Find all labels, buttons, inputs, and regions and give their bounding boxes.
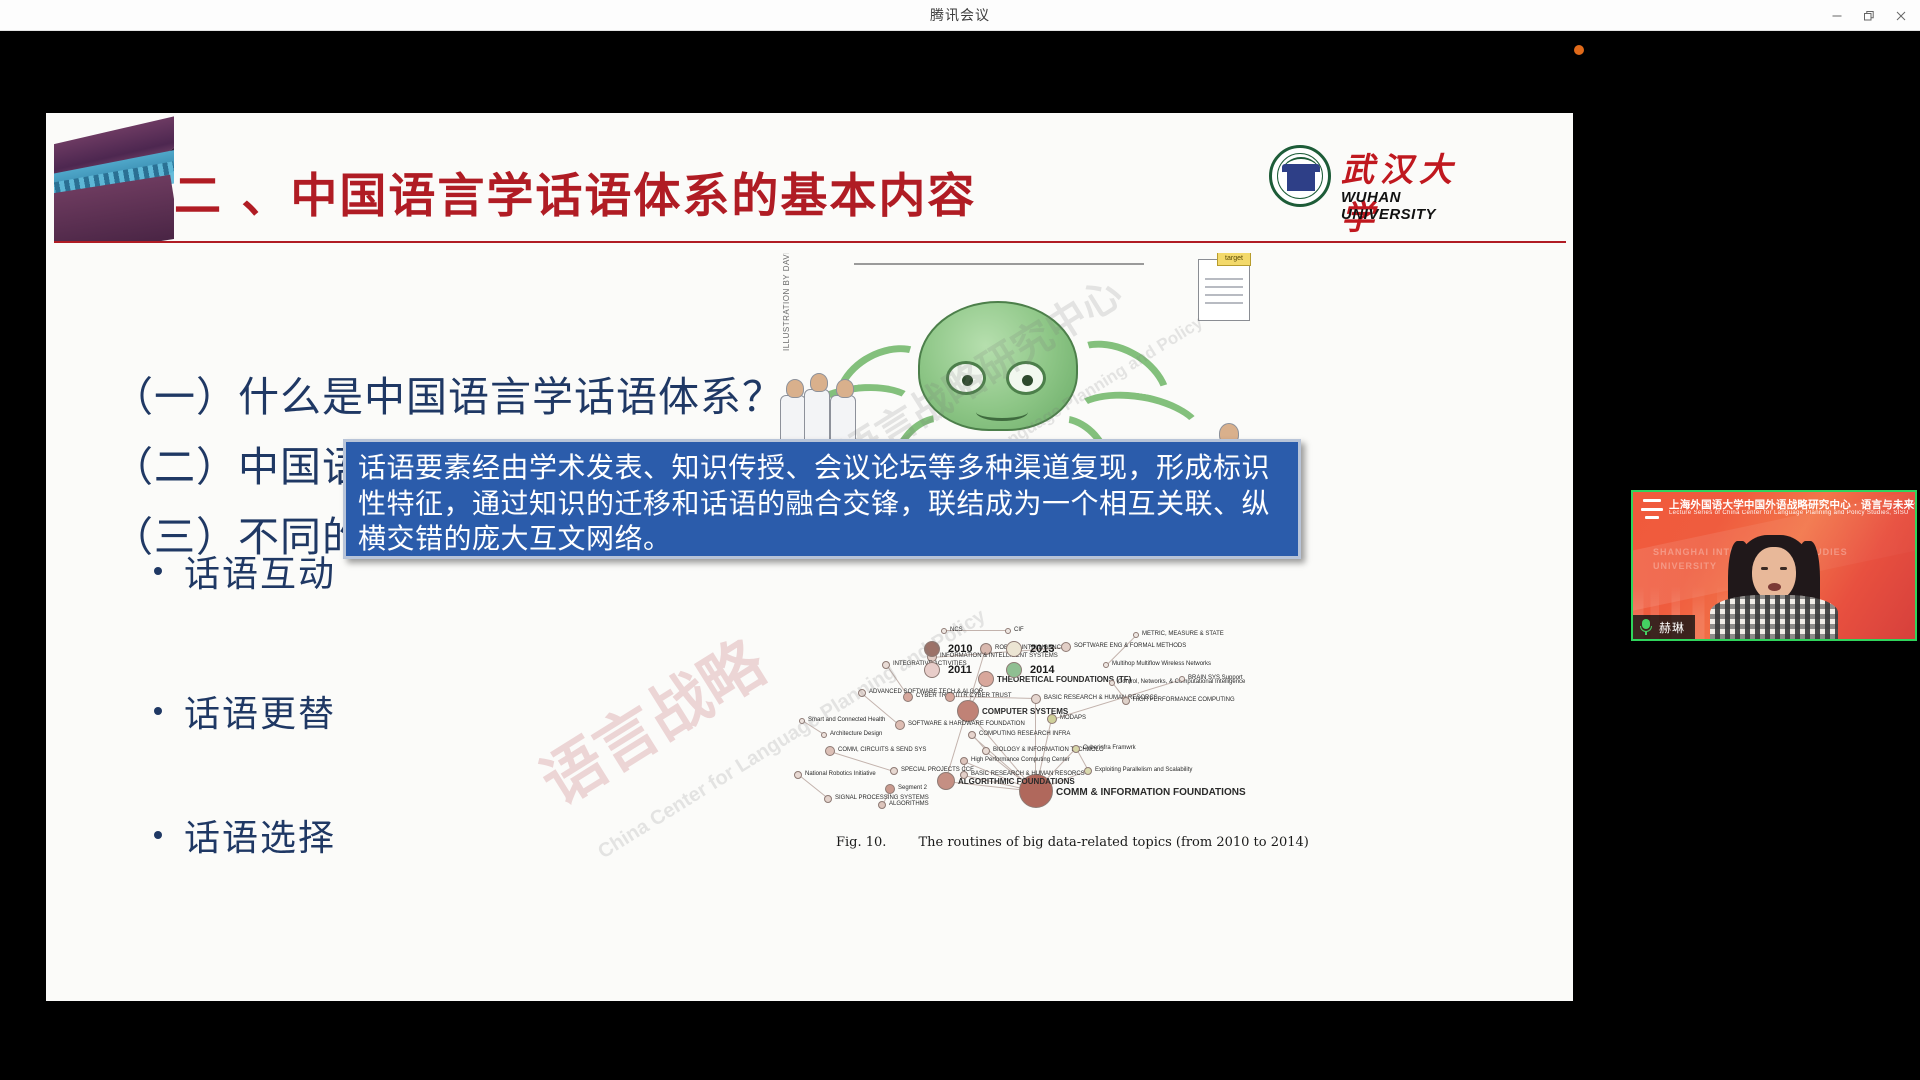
network-node-label: Architecture Design [830, 731, 882, 737]
legend-item: 2011 [924, 662, 972, 678]
window-title: 腾讯会议 [930, 5, 990, 25]
banner-english-title: Lecture Series of China Center for Langu… [1669, 510, 1909, 516]
network-node [1133, 632, 1139, 638]
network-node-label: Cyberinfra Framwrk [1083, 745, 1136, 751]
slide-question-1: （一）什么是中国语言学话语体系？ [112, 363, 784, 423]
legend-color-chip [924, 662, 940, 678]
participant-name-chip: 赫琳 [1633, 615, 1695, 639]
restore-icon[interactable] [1854, 3, 1884, 29]
network-node [968, 731, 976, 739]
screen-share-area: 二 、中国语言学话语体系的基本内容 武汉大学 WUHAN UNIVERSITY … [25, 31, 1628, 1052]
network-node [1084, 767, 1092, 775]
bullet-label: 话语互动 [184, 545, 336, 597]
network-node [941, 628, 947, 634]
network-node-label: National Robotics Initiative [805, 771, 876, 777]
network-edge [830, 751, 894, 772]
network-node [1047, 714, 1057, 724]
network-node [799, 718, 805, 724]
slide-header: 二 、中国语言学话语体系的基本内容 武汉大学 WUHAN UNIVERSITY [46, 113, 1573, 249]
network-node-label: MODAPS [1060, 715, 1086, 721]
microphone-icon[interactable] [1639, 619, 1653, 635]
network-node [1122, 697, 1130, 705]
bullet-dot-icon [154, 707, 162, 715]
network-node [957, 700, 979, 722]
wuhan-university-logo: 武汉大学 WUHAN UNIVERSITY [1269, 143, 1495, 217]
network-node [878, 801, 886, 809]
participant-name: 赫琳 [1659, 619, 1685, 636]
sisu-logo-icon [1641, 499, 1663, 519]
meeting-stage: 二 、中国语言学话语体系的基本内容 武汉大学 WUHAN UNIVERSITY … [0, 31, 1920, 1080]
network-node-label: SOFTWARE ENG & FORMAL METHODS [1074, 643, 1186, 649]
legend-color-chip [1006, 641, 1022, 657]
figure-caption: Fig. 10. The routines of big data-relate… [836, 835, 1476, 850]
network-node-label: Multihop Multiflow Wireless Networks [1112, 661, 1211, 667]
network-node [960, 757, 968, 765]
network-node-label: BASIC RESEARCH & HUMAN RESORCS [971, 771, 1085, 777]
logo-english-name: WUHAN UNIVERSITY [1341, 189, 1495, 223]
participant-video-tile[interactable]: SHANGHAI INTERNATIONAL STUDIES UNIVERSIT… [1631, 490, 1917, 641]
network-node-label: SPECIAL PROJECTS CCF [901, 767, 974, 773]
callout-text: 话语要素经由学术发表、知识传授、会议论坛等多种渠道复现，形成标识性特征，通过知识… [358, 450, 1284, 557]
network-node-label: COMM & INFORMATION FOUNDATIONS [1056, 787, 1246, 798]
network-node [1179, 676, 1185, 682]
bullet-label: 话语更替 [184, 685, 336, 737]
network-node [1072, 745, 1080, 753]
network-node [1103, 662, 1109, 668]
legend-label: 2010 [948, 643, 972, 655]
network-node [937, 772, 955, 790]
network-node-label: Smart and Connected Health [808, 717, 885, 723]
network-node [858, 689, 866, 697]
slide-bullet-3: 话语选择 [154, 809, 336, 861]
speaker-figure [1709, 535, 1839, 639]
network-node [978, 671, 994, 687]
minimize-icon[interactable] [1822, 3, 1852, 29]
network-node-label: Exploiting Parallelism and Scalability [1095, 767, 1192, 773]
network-node [885, 784, 895, 794]
network-node [1109, 680, 1115, 686]
network-node-label: High Performance Computing Center [971, 757, 1070, 763]
network-node-label: BRAIN SYS Support [1188, 675, 1243, 681]
legend-label: 2013 [1030, 643, 1054, 655]
network-figure: COMM & INFORMATION FOUNDATIONSCOMPUTER S… [736, 573, 1536, 903]
illustration-credit: ILLUSTRATION BY DAVID PARKINS [782, 253, 791, 351]
slide-bullet-2: 话语更替 [154, 685, 336, 737]
network-node-label: ALGORITHMS [889, 801, 929, 807]
network-node [890, 767, 898, 775]
network-node [794, 771, 802, 779]
bullet-label: 话语选择 [184, 809, 336, 861]
network-node-label: Segment 2 [898, 785, 927, 791]
network-edge [798, 774, 829, 799]
figure-caption-label: Fig. 10. [836, 835, 886, 850]
network-node-label: METRIC, MEASURE & STATE [1142, 631, 1224, 637]
header-divider [54, 241, 1566, 243]
network-node [824, 795, 832, 803]
slide-title: 二 、中国语言学话语体系的基本内容 [174, 157, 976, 226]
legend-color-chip [924, 641, 940, 657]
legend-item: 2013 [1006, 641, 1054, 657]
network-node [825, 746, 835, 756]
network-node-label: NCS [950, 627, 963, 633]
highlight-callout-box: 话语要素经由学术发表、知识传授、会议论坛等多种渠道复现，形成标识性特征，通过知识… [343, 439, 1301, 559]
bullet-dot-icon [154, 567, 162, 575]
legend-label: 2014 [1030, 664, 1054, 676]
window-controls [1822, 0, 1916, 31]
tencent-meeting-window: 腾讯会议 [0, 0, 1920, 1080]
clipboard-icon: target [1198, 259, 1250, 321]
octopus-head-icon [918, 301, 1078, 431]
legend-color-chip [1006, 662, 1022, 678]
network-node-label: COMPUTING RESEARCH INFRA [979, 731, 1070, 737]
network-node-label: HIGH PERFORMANCE COMPUTING [1133, 697, 1235, 703]
pagoda-decoration-icon [54, 115, 174, 243]
network-node [895, 720, 905, 730]
network-node [1061, 642, 1071, 652]
recording-indicator-icon [1574, 45, 1584, 55]
network-node [1031, 694, 1041, 704]
network-node [821, 732, 827, 738]
legend-label: 2011 [948, 664, 972, 676]
figure-caption-text: The routines of big data-related topics … [918, 835, 1308, 850]
network-node [1005, 628, 1011, 634]
bullet-dot-icon [154, 831, 162, 839]
window-titlebar: 腾讯会议 [0, 0, 1920, 31]
network-node-label: ADVANCED SOFTWARE TECH & ALGOR [869, 689, 983, 695]
slide-bullet-1: 话语互动 [154, 545, 336, 597]
close-icon[interactable] [1886, 3, 1916, 29]
network-node-label: CIF [1014, 627, 1024, 633]
legend-item: 2014 [1006, 662, 1054, 678]
legend-item: 2010 [924, 641, 972, 657]
university-seal-icon [1269, 145, 1331, 207]
network-node [882, 661, 890, 669]
network-node-label: COMM, CIRCUITS & SEND SYS [838, 747, 926, 753]
network-node-label: SOFTWARE & HARDWARE FOUNDATION [908, 721, 1025, 727]
network-node [982, 747, 990, 755]
network-node-label: ALGORITHMIC FOUNDATIONS [958, 777, 1075, 786]
